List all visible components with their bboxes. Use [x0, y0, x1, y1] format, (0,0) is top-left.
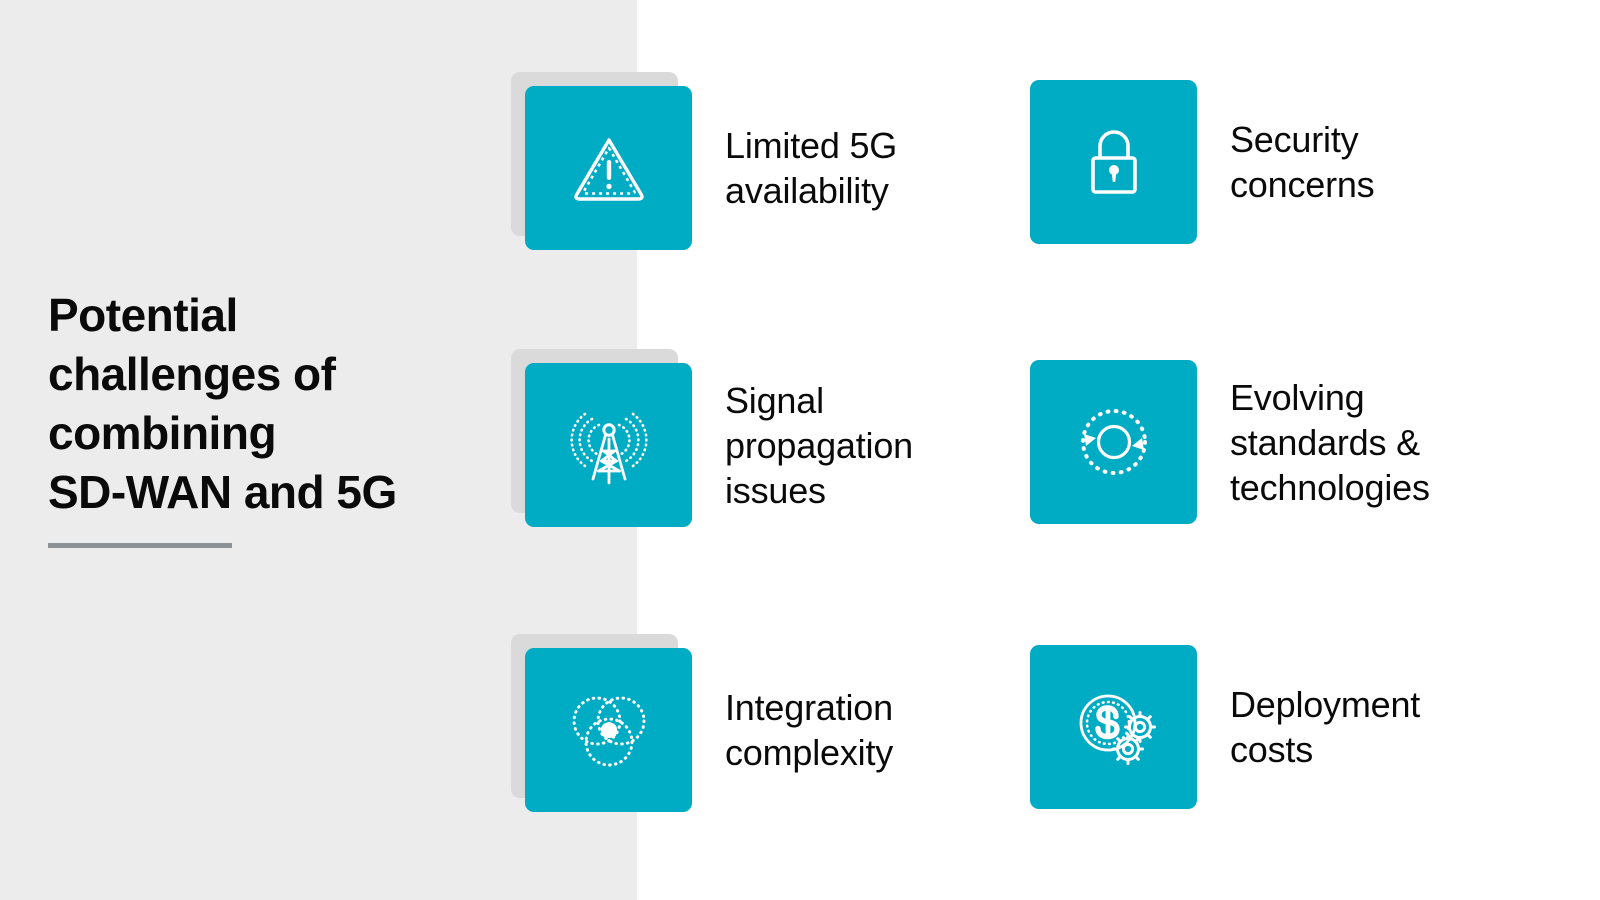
- icon-tile-wrapper: [525, 648, 692, 812]
- challenge-label: Evolving standards & technologies: [1230, 375, 1430, 510]
- challenge-item-deployment-costs: Deployment costs: [1030, 645, 1420, 809]
- radio-tower-icon: [563, 399, 655, 491]
- challenges-grid: Limited 5G availability Security concern…: [0, 0, 1600, 900]
- challenge-label: Deployment costs: [1230, 682, 1420, 772]
- challenge-item-security-concerns: Security concerns: [1030, 80, 1374, 244]
- challenge-item-limited-5g-availability: Limited 5G availability: [525, 86, 897, 250]
- challenge-item-integration-complexity: Integration complexity: [525, 648, 893, 812]
- icon-tile: [1030, 645, 1197, 809]
- icon-tile-wrapper: [1030, 360, 1197, 524]
- money-gears-icon: [1066, 679, 1162, 775]
- challenge-label: Signal propagation issues: [725, 378, 913, 513]
- warning-triangle-icon: [567, 126, 651, 210]
- challenge-item-evolving-standards: Evolving standards & technologies: [1030, 360, 1430, 524]
- icon-tile-wrapper: [1030, 80, 1197, 244]
- venn-diagram-icon: [561, 682, 657, 778]
- challenge-item-signal-propagation-issues: Signal propagation issues: [525, 363, 913, 527]
- icon-tile: [1030, 360, 1197, 524]
- icon-tile: [525, 86, 692, 250]
- icon-tile: [525, 648, 692, 812]
- challenge-label: Integration complexity: [725, 685, 893, 775]
- cycle-arrows-icon: [1068, 396, 1160, 488]
- padlock-icon: [1072, 120, 1156, 204]
- icon-tile-wrapper: [1030, 645, 1197, 809]
- challenge-label: Limited 5G availability: [725, 123, 897, 213]
- icon-tile-wrapper: [525, 86, 692, 250]
- challenge-label: Security concerns: [1230, 117, 1374, 207]
- icon-tile: [1030, 80, 1197, 244]
- icon-tile-wrapper: [525, 363, 692, 527]
- icon-tile: [525, 363, 692, 527]
